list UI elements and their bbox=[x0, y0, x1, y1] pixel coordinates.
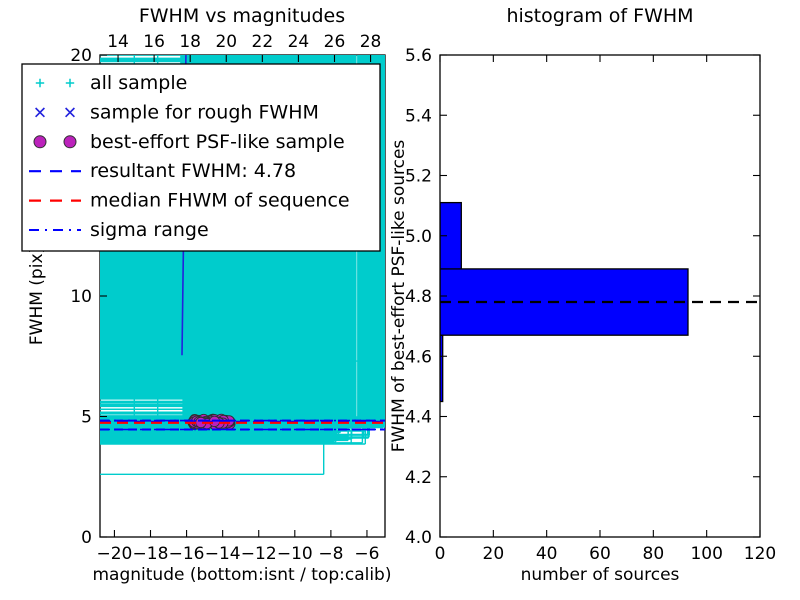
circle-icon bbox=[64, 136, 76, 148]
x-tick-label: −14 bbox=[205, 544, 241, 564]
circle-icon bbox=[34, 136, 46, 148]
left-x-axis-label: magnitude (bottom:isnt / top:calib) bbox=[93, 565, 392, 585]
y-tick-label: 20 bbox=[70, 46, 92, 66]
top-x-tick-label: 16 bbox=[143, 32, 165, 52]
left-bottom-ticks: −20−18−16−14−12−10−8−6 bbox=[96, 530, 379, 564]
x-tick-label: −12 bbox=[241, 544, 277, 564]
y-tick-label: 4.8 bbox=[405, 287, 432, 307]
legend-item-label: all sample bbox=[90, 72, 187, 94]
legend-item-label: sample for rough FWHM bbox=[90, 101, 319, 123]
left-plot-title: FWHM vs magnitudes bbox=[139, 5, 345, 27]
x-tick-label: −18 bbox=[133, 544, 169, 564]
right-x-axis-label: number of sources bbox=[521, 565, 680, 585]
top-x-tick-label: 20 bbox=[215, 32, 237, 52]
x-tick-label: −10 bbox=[277, 544, 313, 564]
legend-item-label: median FHWM of sequence bbox=[90, 190, 350, 212]
x-tick-label: 120 bbox=[744, 544, 776, 564]
x-tick-label: −8 bbox=[318, 544, 343, 564]
legend-item-label: sigma range bbox=[90, 219, 209, 241]
y-tick-label: 4.6 bbox=[405, 347, 432, 367]
x-tick-label: 0 bbox=[435, 544, 446, 564]
top-x-tick-label: 26 bbox=[324, 32, 346, 52]
right-y-axis-label: FWHM of best-effort PSF-like sources bbox=[389, 140, 409, 453]
top-x-tick-label: 14 bbox=[107, 32, 129, 52]
histogram-bars bbox=[440, 203, 760, 402]
left-y-axis-label: FWHM (pix) bbox=[27, 247, 47, 345]
legend-item-label: resultant FWHM: 4.78 bbox=[90, 160, 296, 182]
y-tick-label: 4.4 bbox=[405, 408, 432, 428]
right-plot-title: histogram of FWHM bbox=[506, 5, 693, 27]
x-tick-label: 60 bbox=[589, 544, 611, 564]
x-tick-label: −6 bbox=[354, 544, 379, 564]
x-tick-label: 20 bbox=[483, 544, 505, 564]
y-tick-label: 5.0 bbox=[405, 227, 432, 247]
right-axes: histogram of FWHM 020406080100120 4.04.2… bbox=[389, 5, 776, 585]
y-tick-label: 5.6 bbox=[405, 46, 432, 66]
x-tick-label: 40 bbox=[536, 544, 558, 564]
x-tick-label: 100 bbox=[690, 544, 722, 564]
figure-canvas: FWHM vs magnitudes −20−18−16 bbox=[0, 0, 800, 600]
y-tick-label: 4.0 bbox=[405, 528, 432, 548]
y-tick-label: 5 bbox=[81, 408, 92, 428]
y-tick-label: 0 bbox=[81, 528, 92, 548]
top-x-tick-label: 18 bbox=[179, 32, 201, 52]
top-x-tick-label: 28 bbox=[360, 32, 382, 52]
top-x-tick-label: 24 bbox=[288, 32, 310, 52]
x-tick-label: −20 bbox=[96, 544, 132, 564]
y-tick-label: 5.4 bbox=[405, 106, 432, 126]
x-tick-label: 80 bbox=[643, 544, 665, 564]
y-tick-label: 10 bbox=[70, 287, 92, 307]
matplotlib-figure: FWHM vs magnitudes −20−18−16 bbox=[0, 0, 800, 600]
x-tick-label: −16 bbox=[169, 544, 205, 564]
top-x-tick-label: 22 bbox=[252, 32, 274, 52]
legend-item-label: best-effort PSF-like sample bbox=[90, 131, 345, 153]
y-tick-label: 5.2 bbox=[405, 167, 432, 187]
legend: all samplesample for rough FWHMbest-effo… bbox=[22, 64, 380, 251]
y-tick-label: 4.2 bbox=[405, 468, 432, 488]
